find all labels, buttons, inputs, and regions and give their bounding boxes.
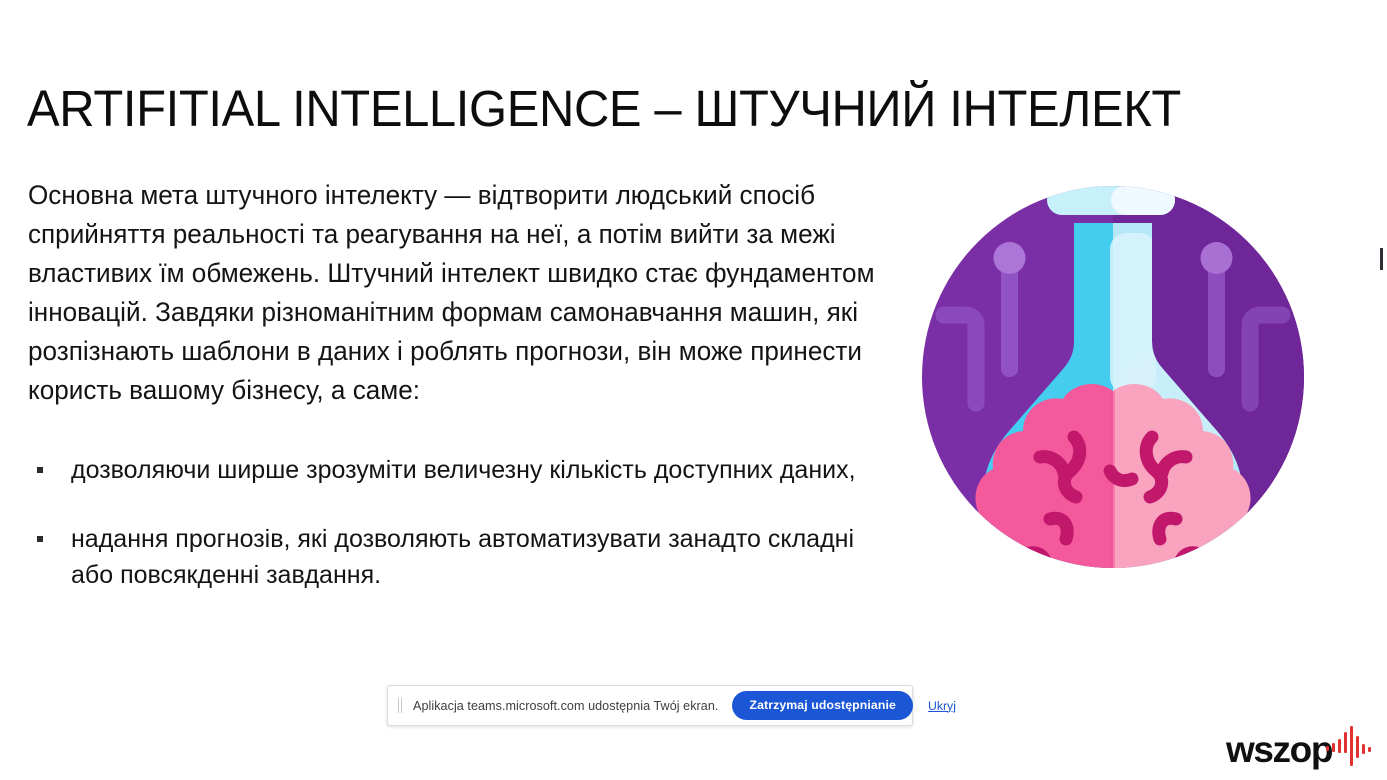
body-text-block: Основна мета штучного інтелекту — відтво…: [28, 176, 890, 410]
page-title: ARTIFITIAL INTELLIGENCE – ШТУЧНИЙ ІНТЕЛЕ…: [27, 78, 1102, 140]
bullet-square-icon: [37, 536, 43, 542]
list-item: дозволяючи ширше зрозуміти величезну кіл…: [28, 452, 890, 488]
list-item: надання прогнозів, які дозволяють автома…: [28, 521, 890, 593]
hide-link[interactable]: Ukryj: [928, 699, 956, 713]
benefits-bullet-list: дозволяючи ширше зрозуміти величезну кіл…: [28, 452, 890, 593]
share-status-text: Aplikacja teams.microsoft.com udostępnia…: [413, 699, 718, 713]
screen-share-notification-bar[interactable]: Aplikacja teams.microsoft.com udostępnia…: [387, 685, 913, 726]
presentation-slide: ARTIFITIAL INTELLIGENCE – ШТУЧНИЙ ІНТЕЛЕ…: [0, 0, 1387, 780]
logo-wordmark: wszop: [1226, 730, 1332, 770]
list-item-label: дозволяючи ширше зрозуміти величезну кіл…: [71, 456, 856, 484]
wszop-logo: wszop: [1226, 722, 1376, 774]
right-edge-artifact: [1380, 248, 1383, 270]
ai-brain-flask-illustration: [922, 163, 1304, 575]
intro-paragraph: Основна мета штучного інтелекту — відтво…: [28, 176, 877, 410]
list-item-label: надання прогнозів, які дозволяють автома…: [71, 525, 854, 589]
stop-sharing-button[interactable]: Zatrzymaj udostępnianie: [732, 691, 912, 720]
bullet-square-icon: [37, 467, 43, 473]
audio-waveform-icon: [1324, 722, 1376, 770]
drag-handle-icon[interactable]: [398, 698, 402, 713]
